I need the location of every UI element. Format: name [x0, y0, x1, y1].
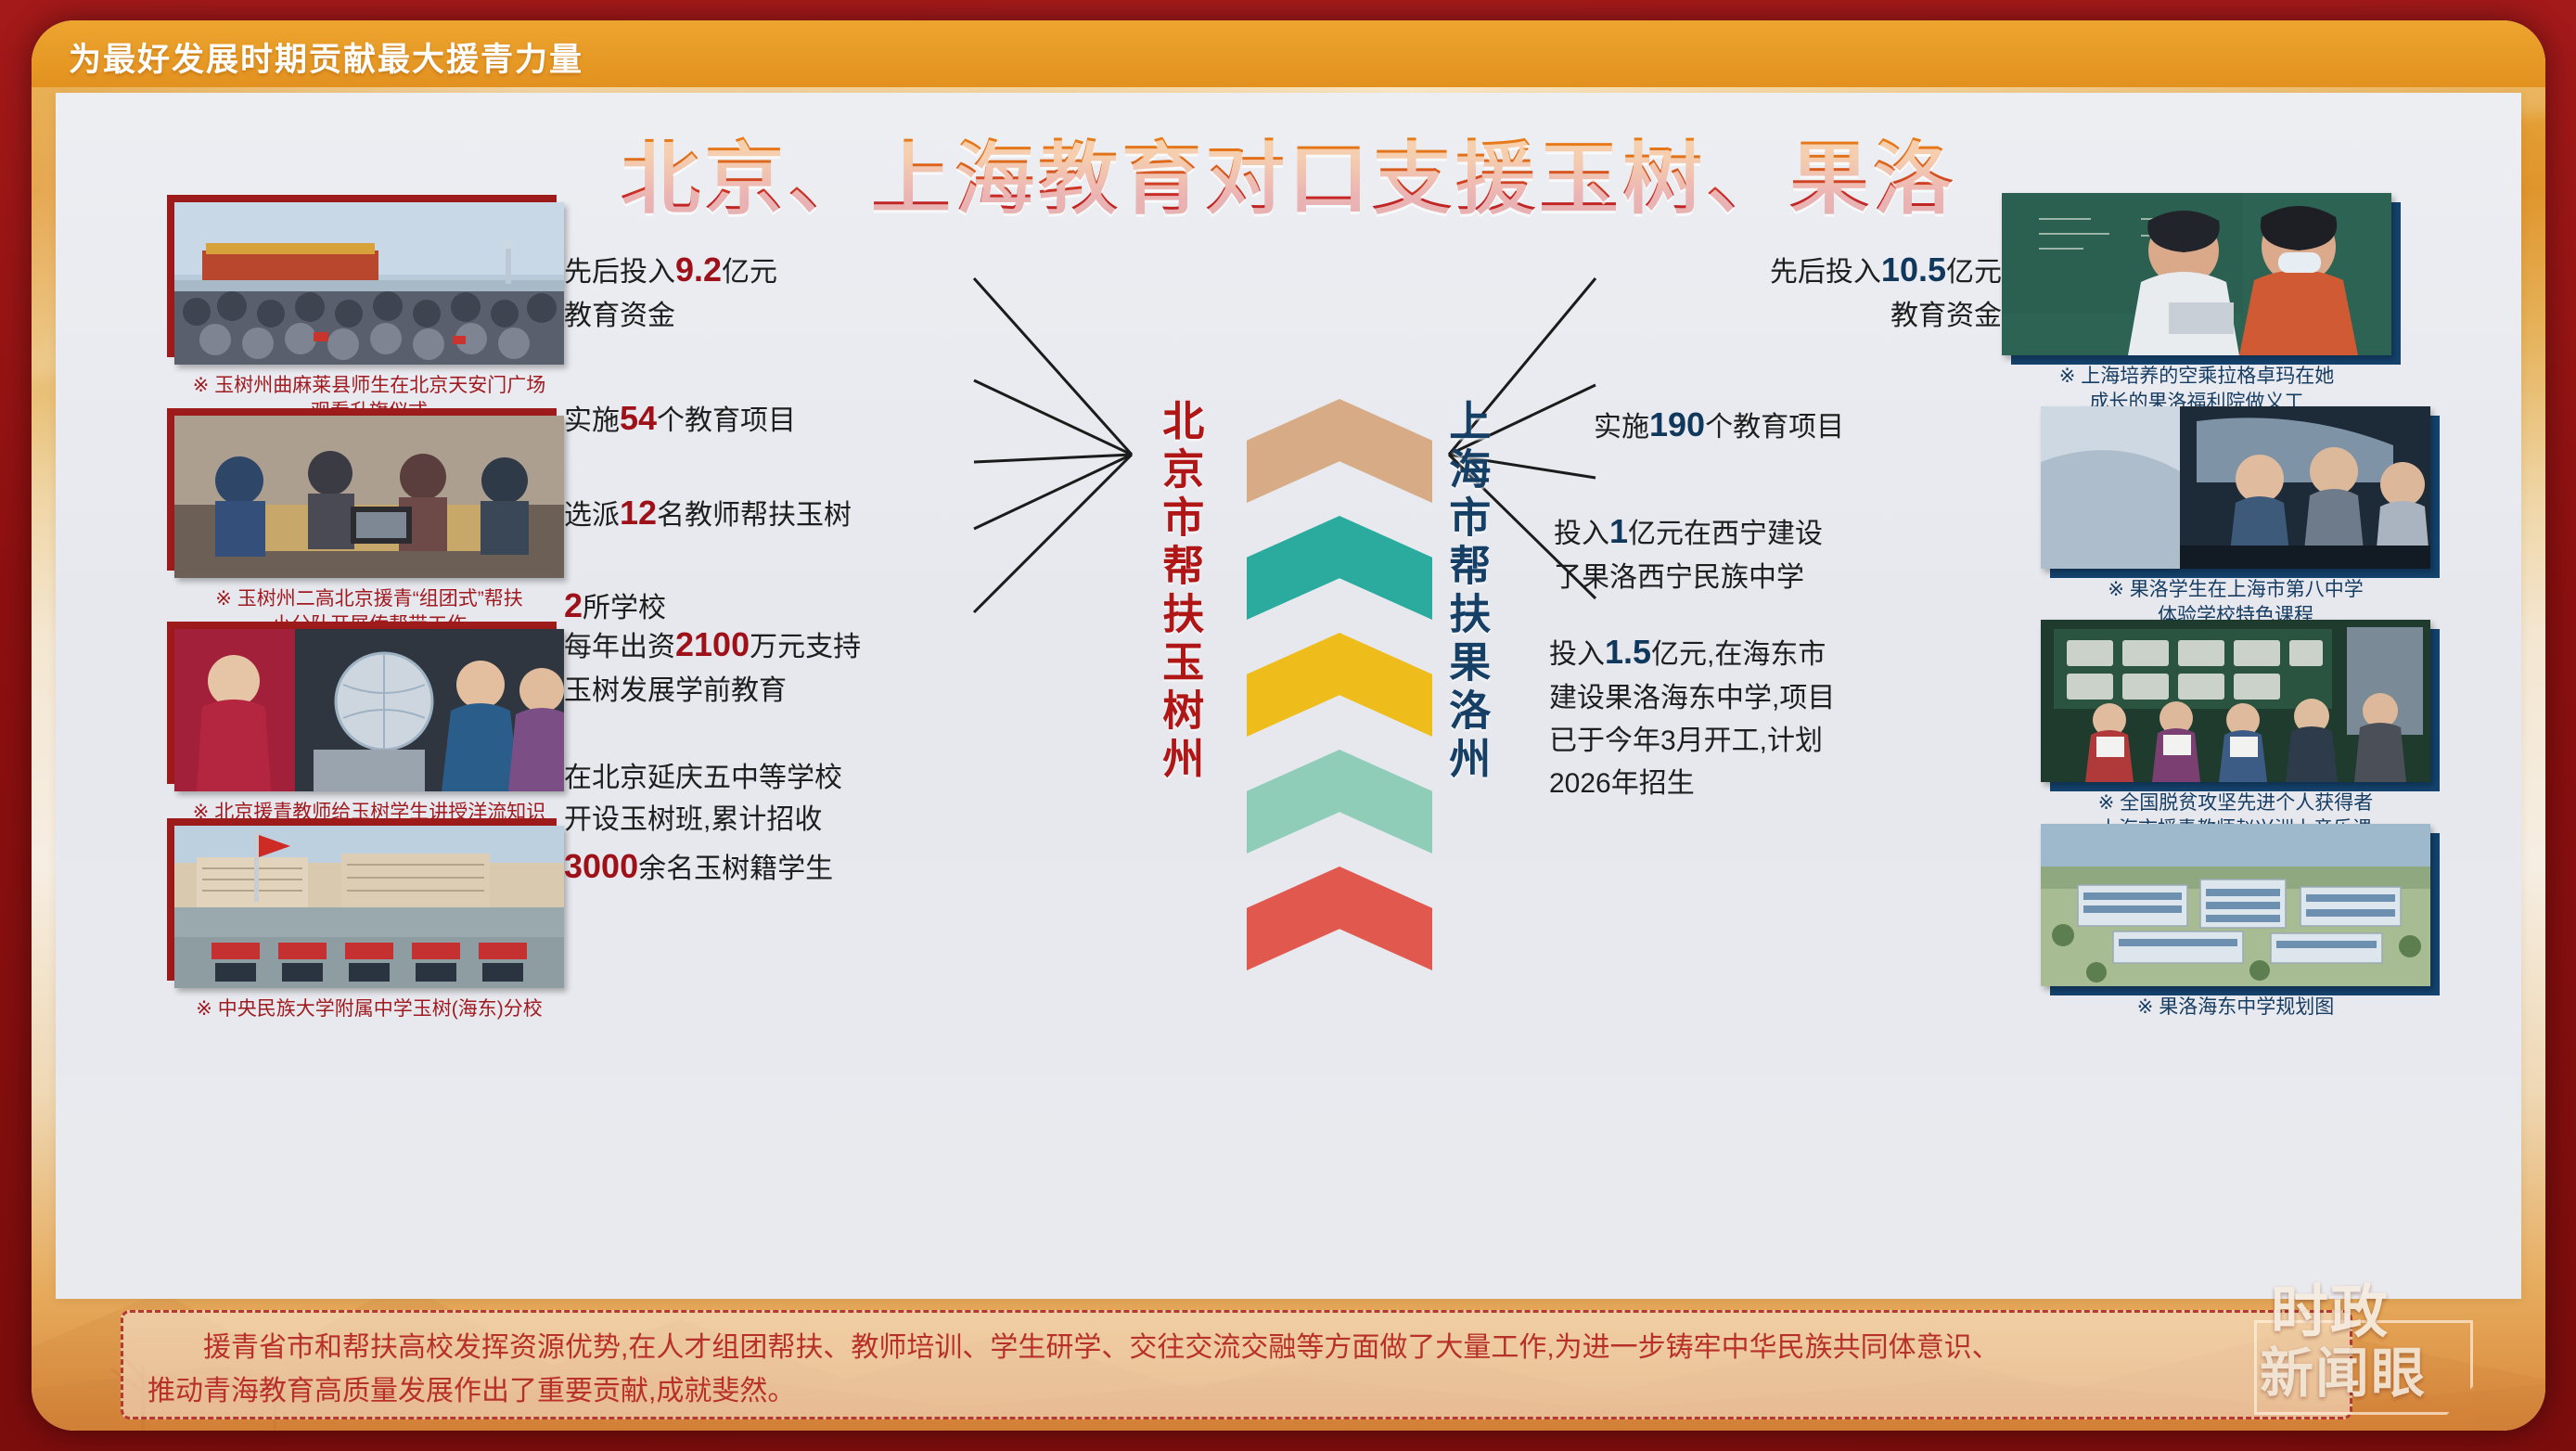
- stat-number: 1.5: [1605, 633, 1651, 671]
- display-board: 为最好发展时期贡献最大援青力量 北京、上海教育对口支援玉树、果洛: [32, 20, 2545, 1431]
- right-stat-3: 投入1亿元在西宁建设 了果洛西宁民族中学: [1554, 464, 1962, 599]
- content-card: 北京、上海教育对口支援玉树、果洛: [56, 93, 2521, 1299]
- stat-prefix: 实施: [564, 405, 620, 436]
- photo-ocean-lesson: [174, 629, 564, 791]
- outer-frame: 为最好发展时期贡献最大援青力量 北京、上海教育对口支援玉树、果洛: [0, 0, 2576, 1451]
- right-stat-1: 先后投入10.5亿元 教育资金: [1594, 202, 2002, 338]
- right-photo-block-4: ※ 果洛海东中学规划图: [2041, 824, 2430, 1021]
- photo-caption: ※ 果洛海东中学规划图: [2041, 995, 2430, 1021]
- left-photo-block-2: ※ 玉树州二高北京援青“组团式”帮扶 小分队开展传帮带工作: [174, 416, 564, 638]
- stat-number: 10.5: [1881, 250, 1946, 289]
- left-stat-5: 在北京延庆五中等学校 开设玉树班,累计招收 3000余名玉树籍学生: [564, 714, 963, 892]
- stat-suffix: 余名玉树籍学生: [638, 854, 833, 884]
- left-photo-block-1: ※ 玉树州曲麻莱县师生在北京天安门广场 观看升旗仪式: [174, 202, 564, 425]
- chevron-4: [1247, 750, 1432, 854]
- photo-volunteer-welfare: [2002, 193, 2391, 355]
- bottom-summary-banner: 援青省市和帮扶高校发挥资源优势,在人才组团帮扶、教师培训、学生研学、交往交流交融…: [121, 1310, 2352, 1419]
- stat-suffix: 个教育项目: [657, 405, 796, 436]
- right-stat-4: 投入1.5亿元,在海东市 建设果洛海东中学,项目 已于今年3月开工,计划 202…: [1549, 584, 1957, 804]
- watermark-line-2: 新闻眼: [2260, 1329, 2427, 1407]
- chevron-1: [1247, 399, 1432, 503]
- channel-watermark: 时政 新闻眼: [2250, 1263, 2519, 1416]
- right-photo-block-3: ※ 全国脱贫攻坚先进个人获得者 上海市援青教师赵兴洲上音乐课: [2041, 620, 2430, 842]
- photo-caption: ※ 中央民族大学附属中学玉树(海东)分校: [174, 996, 564, 1022]
- photo-tiananmen: [174, 202, 564, 365]
- chevron-5: [1247, 867, 1432, 970]
- right-stat-2: 实施190个教育项目: [1594, 357, 2002, 450]
- left-stat-2: 实施54个教育项目: [564, 351, 963, 443]
- photo-car-experience: [2041, 406, 2430, 569]
- header-title: 为最好发展时期贡献最大援青力量: [69, 33, 583, 81]
- left-stat-4: 每年出资2100万元支持 玉树发展学前教育: [564, 577, 963, 713]
- stat-number: 54: [620, 399, 657, 437]
- stat-suffix: 名教师帮扶玉树: [657, 500, 852, 531]
- stat-suffix: 个教育项目: [1705, 412, 1844, 443]
- left-photo-block-3: ※ 北京援青教师给玉树学生讲授洋流知识: [174, 629, 564, 826]
- stat-prefix: 选派: [564, 500, 620, 531]
- stat-prefix: 投入: [1554, 519, 1609, 549]
- stat-prefix: 投入: [1549, 639, 1605, 670]
- photo-school-rendering: [2041, 824, 2430, 986]
- left-stat-1: 先后投入9.2亿元 教育资金: [564, 202, 963, 338]
- stat-prefix: 先后投入: [1770, 257, 1881, 288]
- right-photo-block-1: ※ 上海培养的空乘拉格卓玛在她 成长的果洛福利院做义工: [2002, 193, 2391, 416]
- left-photo-block-4: ※ 中央民族大学附属中学玉树(海东)分校: [174, 826, 564, 1022]
- chevron-2: [1247, 516, 1432, 620]
- stat-prefix: 每年出资: [564, 632, 675, 662]
- stat-number: 12: [620, 494, 657, 532]
- stat-number: 9.2: [675, 250, 722, 289]
- stat-prefix: 实施: [1594, 412, 1649, 443]
- center-label-beijing: 北京市帮扶玉树州: [1158, 399, 1201, 785]
- banner-text: 援青省市和帮扶高校发挥资源优势,在人才组团帮扶、教师培训、学生研学、交往交流交融…: [123, 1313, 2350, 1414]
- stat-number: 1: [1609, 512, 1628, 550]
- chevron-arrow-stack: [1247, 399, 1432, 983]
- center-label-shanghai: 上海市帮扶果洛州: [1444, 399, 1488, 785]
- stat-prefix: 先后投入: [564, 257, 675, 288]
- stat-number: 190: [1649, 405, 1705, 443]
- chevron-3: [1247, 633, 1432, 737]
- photo-school-campus: [174, 826, 564, 988]
- right-photo-block-2: ※ 果洛学生在上海市第八中学 体验学校特色课程: [2041, 406, 2430, 629]
- stat-number: 2100: [675, 625, 750, 663]
- stat-prefix: 在北京延庆五中等学校 开设玉树班,累计招收: [564, 763, 842, 836]
- photo-classroom-teachers: [174, 416, 564, 578]
- photo-music-class: [2041, 620, 2430, 782]
- stat-number: 3000: [564, 847, 638, 885]
